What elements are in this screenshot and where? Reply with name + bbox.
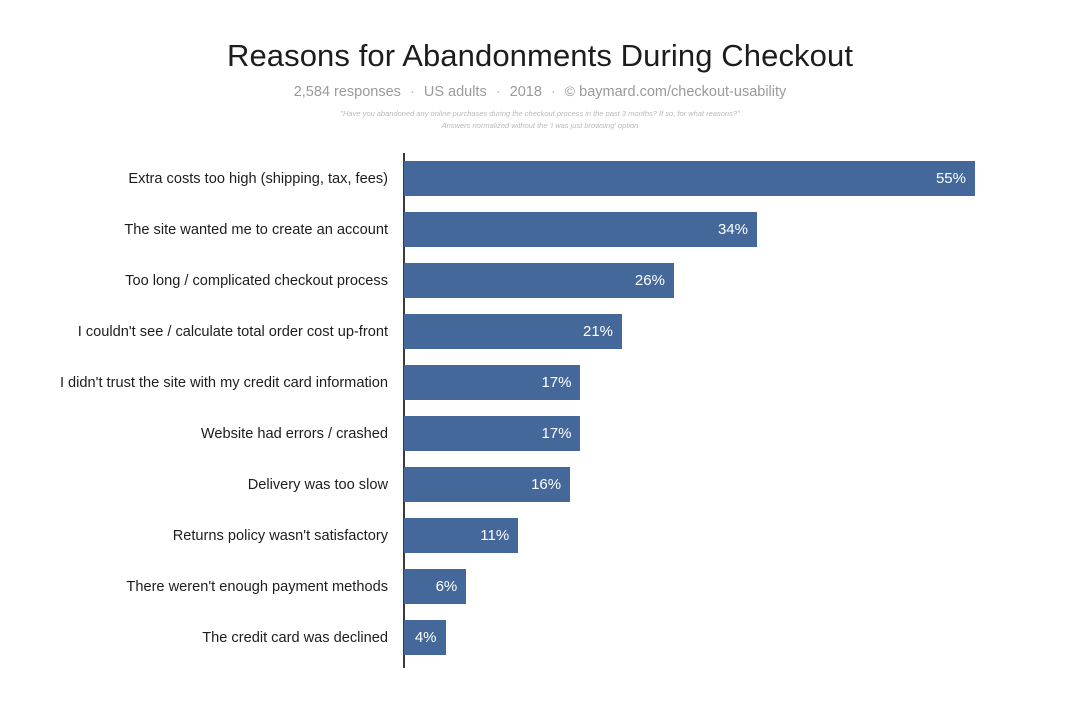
category-label: Returns policy wasn't satisfactory — [0, 527, 388, 545]
bar[interactable]: 11% — [404, 518, 518, 553]
bar-wrapper: 16% — [404, 467, 570, 502]
bar-row: Extra costs too high (shipping, tax, fee… — [0, 153, 1080, 204]
category-label: Delivery was too slow — [0, 476, 388, 494]
page-title: Reasons for Abandonments During Checkout — [0, 36, 1080, 76]
category-label: Website had errors / crashed — [0, 425, 388, 443]
subtitle-year: 2018 — [510, 84, 542, 100]
bar-wrapper: 55% — [404, 161, 975, 196]
bar-wrapper: 17% — [404, 365, 580, 400]
category-label: I didn't trust the site with my credit c… — [0, 374, 388, 392]
subtitle-separator-3: · — [546, 84, 561, 100]
bar-wrapper: 11% — [404, 518, 518, 553]
bar-row: The credit card was declined4% — [0, 612, 1080, 663]
bar[interactable]: 17% — [404, 365, 580, 400]
bar-row: I couldn't see / calculate total order c… — [0, 306, 1080, 357]
bar-value-label: 4% — [415, 629, 437, 647]
copyright-icon: © — [565, 83, 575, 99]
subtitle-separator-1: · — [405, 84, 420, 100]
source-link[interactable]: baymard.com/checkout-usability — [579, 84, 786, 100]
category-label: I couldn't see / calculate total order c… — [0, 323, 388, 341]
bar-value-label: 55% — [936, 170, 966, 188]
chart-subtitle: 2,584 responses · US adults · 2018 · © b… — [0, 82, 1080, 101]
bar[interactable]: 55% — [404, 161, 975, 196]
bar-value-label: 17% — [541, 425, 571, 443]
subtitle-audience: US adults — [424, 84, 487, 100]
bar-wrapper: 4% — [404, 620, 446, 655]
bar-wrapper: 17% — [404, 416, 580, 451]
bar[interactable]: 17% — [404, 416, 580, 451]
subtitle-responses: 2,584 responses — [294, 84, 401, 100]
bar-row: Delivery was too slow16% — [0, 459, 1080, 510]
bar[interactable]: 4% — [404, 620, 446, 655]
bar[interactable]: 26% — [404, 263, 674, 298]
bar-value-label: 16% — [531, 476, 561, 494]
bar-rows: Extra costs too high (shipping, tax, fee… — [0, 153, 1080, 663]
category-label: The credit card was declined — [0, 629, 388, 647]
bar-wrapper: 34% — [404, 212, 757, 247]
bar-value-label: 6% — [436, 578, 458, 596]
category-label: Extra costs too high (shipping, tax, fee… — [0, 170, 388, 188]
chart-header: Reasons for Abandonments During Checkout… — [0, 36, 1080, 131]
bar-wrapper: 6% — [404, 569, 466, 604]
subtitle-separator-2: · — [491, 84, 506, 100]
category-label: There weren't enough payment methods — [0, 578, 388, 596]
bar-row: Too long / complicated checkout process2… — [0, 255, 1080, 306]
bar[interactable]: 34% — [404, 212, 757, 247]
survey-question-note: "Have you abandoned any online purchases… — [0, 108, 1080, 119]
bar-row: The site wanted me to create an account3… — [0, 204, 1080, 255]
bar-row: Website had errors / crashed17% — [0, 408, 1080, 459]
plot-area: Extra costs too high (shipping, tax, fee… — [0, 153, 1080, 673]
bar-wrapper: 21% — [404, 314, 622, 349]
bar-value-label: 17% — [541, 374, 571, 392]
category-label: Too long / complicated checkout process — [0, 272, 388, 290]
chart-container: Reasons for Abandonments During Checkout… — [0, 0, 1080, 721]
bar-value-label: 26% — [635, 272, 665, 290]
bar-row: I didn't trust the site with my credit c… — [0, 357, 1080, 408]
bar-value-label: 21% — [583, 323, 613, 341]
bar[interactable]: 16% — [404, 467, 570, 502]
category-label: The site wanted me to create an account — [0, 221, 388, 239]
bar[interactable]: 21% — [404, 314, 622, 349]
bar-value-label: 34% — [718, 221, 748, 239]
bar-row: There weren't enough payment methods6% — [0, 561, 1080, 612]
bar-row: Returns policy wasn't satisfactory11% — [0, 510, 1080, 561]
bar-wrapper: 26% — [404, 263, 674, 298]
normalization-note: Answers normalized without the 'I was ju… — [0, 120, 1080, 131]
bar[interactable]: 6% — [404, 569, 466, 604]
bar-value-label: 11% — [480, 527, 509, 545]
